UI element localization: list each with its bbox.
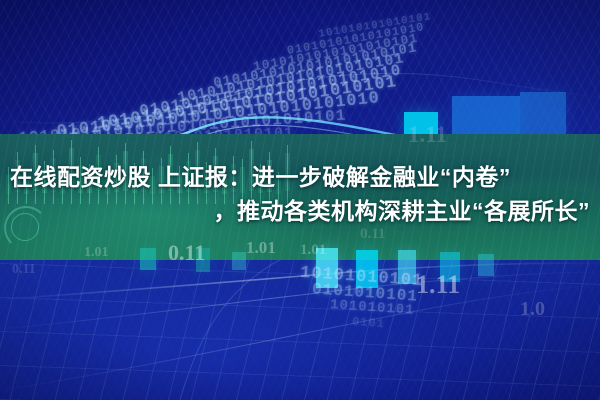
banner-image: 1010101010101010101010101010101010101010… [0,0,600,400]
vignette-overlay [0,0,600,400]
